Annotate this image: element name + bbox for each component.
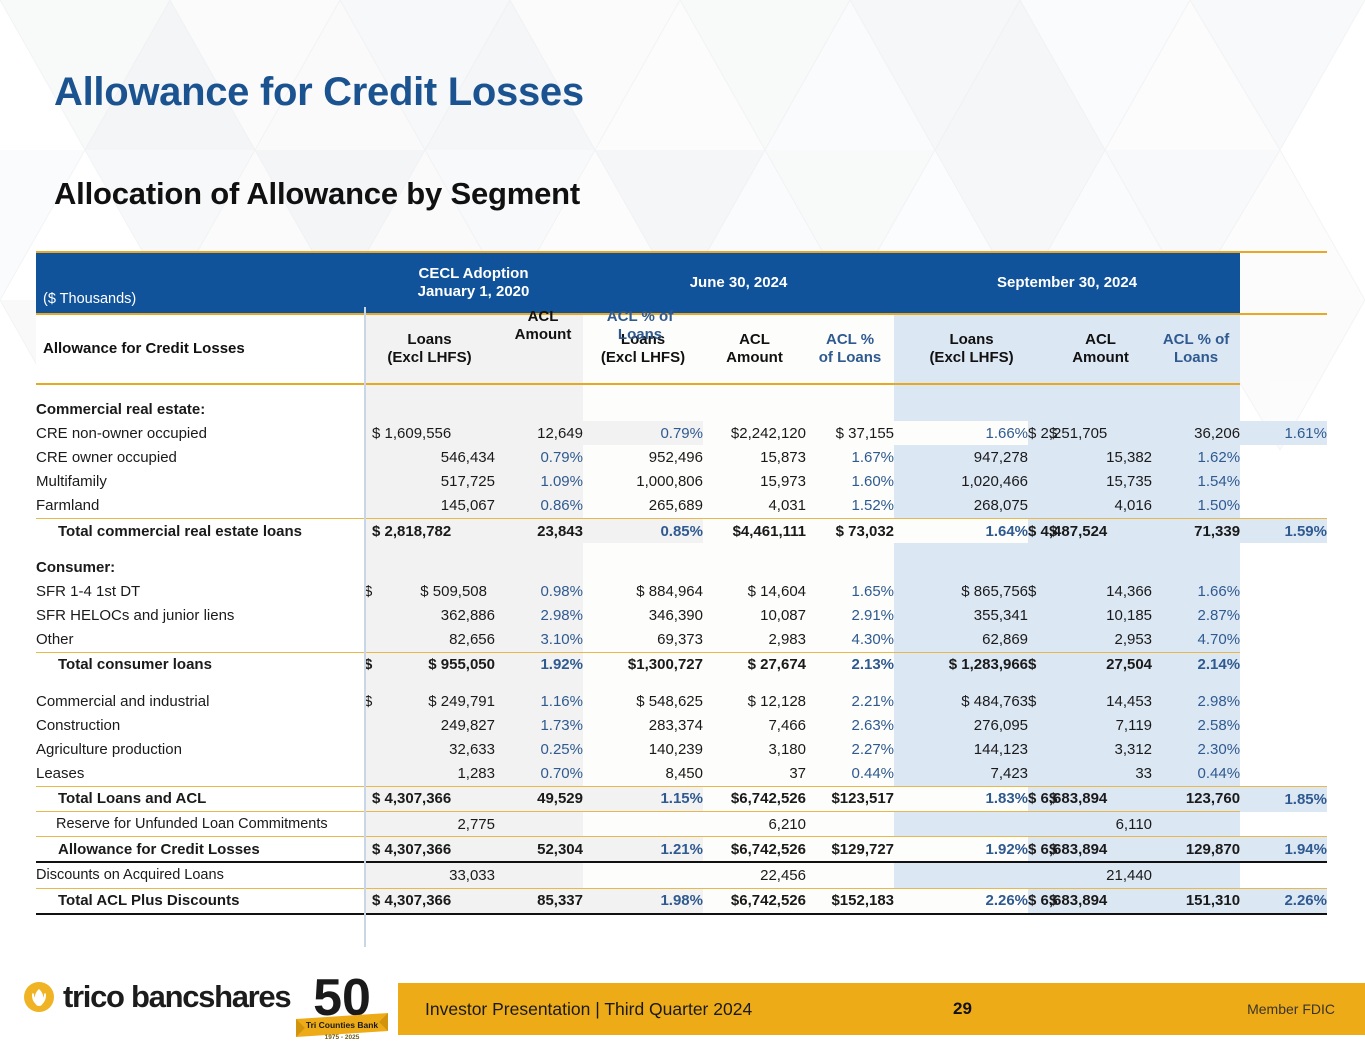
cell: 52,304 — [495, 837, 583, 863]
col-header-acl-sept: ACL Amount — [1049, 314, 1152, 384]
trico-tulip-icon — [22, 980, 56, 1014]
cell: $129,727 — [806, 837, 894, 863]
row-label: Consumer: — [36, 555, 364, 579]
group-header-september-line2: September 30, 2024 — [894, 274, 1240, 292]
row-header-label: Allowance for Credit Losses — [36, 314, 364, 384]
cell: $123,517 — [806, 786, 894, 811]
cell: 144,123 — [894, 737, 1028, 761]
cell: 1.66% — [894, 421, 1028, 445]
table-spacer-row — [36, 543, 1327, 555]
cell: 0.25% — [495, 737, 583, 761]
footer-presentation-label: Investor Presentation | Third Quarter 20… — [425, 983, 752, 1035]
table-row: Multifamily 517,725 1.09% 1.09% 1,000,80… — [36, 470, 1327, 494]
table-row: Agriculture production 32,633 0.25% 0.25… — [36, 737, 1327, 761]
footer-bar: Investor Presentation | Third Quarter 20… — [398, 983, 1365, 1035]
cell: 2.26% — [1240, 888, 1327, 914]
title-block: Allowance for Credit Losses Allocation o… — [54, 72, 584, 209]
cell: 1.64% — [894, 518, 1028, 543]
table-row: Consumer: — [36, 555, 1327, 579]
table-total-row: Total consumer loans $ $ 955,050 1.92% 1… — [36, 652, 1327, 677]
cell: 2.87% — [1152, 604, 1240, 628]
table-row: Commercial and industrial $ $ 249,791 1.… — [36, 689, 1327, 713]
col-header-acl-june-line2: Amount — [703, 349, 806, 367]
cell: 69,373 — [583, 628, 703, 653]
table-row: Reserve for Unfunded Loan Commitments 2,… — [36, 812, 1327, 837]
cell: 0.98% — [495, 579, 583, 603]
row-label: Discounts on Acquired Loans — [36, 862, 364, 888]
cell: 1.73% — [495, 713, 583, 737]
cell: 1.16% — [495, 689, 583, 713]
cell: 8,450 — [583, 762, 703, 787]
cell: 145,067 — [385, 494, 495, 519]
row-label: Total ACL Plus Discounts — [36, 888, 364, 914]
cell: 3.10% — [495, 628, 583, 653]
cell: 71,339 — [1152, 518, 1240, 543]
cell: 23,843 — [495, 518, 583, 543]
cell: $6,742,526 — [703, 786, 806, 811]
cell: 14,366 — [1049, 579, 1152, 603]
allowance-by-segment-table: ($ Thousands) CECL Adoption January 1, 2… — [36, 251, 1327, 915]
cell: 7,119 — [1049, 713, 1152, 737]
row-label: SFR HELOCs and junior liens — [36, 604, 364, 628]
cell: 3,312 — [1049, 737, 1152, 761]
row-label: Total commercial real estate loans — [36, 518, 364, 543]
table-row: Construction 249,827 1.73% 1.73% 283,374… — [36, 713, 1327, 737]
col-header-pct-sept-line1: ACL % of — [1152, 331, 1240, 349]
col-header-loans-cecl-line2: (Excl LHFS) — [364, 349, 495, 367]
row-label: SFR 1-4 1st DT — [36, 579, 364, 603]
group-header-september: September 30, 2024 — [894, 252, 1240, 314]
cell: 0.79% — [495, 445, 583, 469]
cell: 947,278 — [894, 445, 1028, 469]
cell: 1.94% — [1240, 837, 1327, 863]
cell: 2.27% — [806, 737, 894, 761]
row-label: Reserve for Unfunded Loan Commitments — [36, 812, 364, 837]
cell: 2.98% — [1152, 689, 1240, 713]
cell: 12,649 — [495, 421, 583, 445]
cell: 7,423 — [894, 762, 1028, 787]
cell: 33 — [1049, 762, 1152, 787]
cell: $ 4,307,366 — [364, 837, 495, 863]
cell: 0.79% — [583, 421, 703, 445]
cell: 362,886 — [385, 604, 495, 628]
cell: 49,529 — [495, 786, 583, 811]
cell: 6,210 — [703, 812, 806, 837]
cell: $ — [1028, 652, 1049, 677]
cell: 7,466 — [703, 713, 806, 737]
cell: 2.58% — [1152, 713, 1240, 737]
cell: 1.83% — [894, 786, 1028, 811]
brand-logo: trico bancshares — [22, 979, 290, 1015]
col-header-acl-sept-line1: ACL — [1049, 331, 1152, 349]
table-row: Other 82,656 3.10% 3.10% 69,373 2,983 4.… — [36, 628, 1327, 653]
cell: $ — [364, 579, 385, 603]
row-label: Other — [36, 628, 364, 653]
slide-footer: trico bancshares 50 Tri Counties Bank 19… — [0, 965, 1365, 1055]
cell: $ 37,155 — [806, 421, 894, 445]
cell: 15,873 — [703, 445, 806, 469]
col-header-acl-june-line1: ACL — [703, 331, 806, 349]
cell: $ 4,307,366 — [364, 888, 495, 914]
allowance-table-container: ($ Thousands) CECL Adoption January 1, 2… — [36, 251, 1327, 915]
cell: $1,300,727 — [583, 652, 703, 677]
cell: 1.50% — [1152, 494, 1240, 519]
cell: $ — [364, 689, 385, 713]
cell: 14,453 — [1049, 689, 1152, 713]
col-header-pct-june-line2: of Loans — [806, 349, 894, 367]
cell: 1.60% — [806, 470, 894, 494]
cell: $ 884,964 — [583, 579, 703, 603]
row-label: CRE non-owner occupied — [36, 421, 364, 445]
cell: $6,742,526 — [703, 837, 806, 863]
cell: $ 6,683,894 — [1028, 786, 1049, 811]
col-header-pct-june-line1: ACL % — [806, 331, 894, 349]
cell: $ 484,763 — [894, 689, 1028, 713]
col-header-pct-sept: ACL % of Loans — [1152, 314, 1240, 384]
cell: 546,434 — [385, 445, 495, 469]
cell: 1.15% — [583, 786, 703, 811]
cell: 0.86% — [495, 494, 583, 519]
cell: 2.26% — [894, 888, 1028, 914]
row-label: Total Loans and ACL — [36, 786, 364, 811]
cell: $ 955,050 — [385, 652, 495, 677]
cell: 268,075 — [894, 494, 1028, 519]
cell: $ 548,625 — [583, 689, 703, 713]
cell: 0.44% — [1152, 762, 1240, 787]
cell: $ 509,508 — [385, 579, 495, 603]
cell: $ 1,609,556 — [364, 421, 495, 445]
table-total-row: Total commercial real estate loans $ 2,8… — [36, 518, 1327, 543]
anniversary-years: 1975 - 2025 — [325, 1034, 360, 1041]
table-total-row: Total Loans and ACL $ 4,307,366 49,529 1… — [36, 786, 1327, 811]
cell: $ 2,251,705 — [1028, 421, 1049, 445]
cell: 1.85% — [1240, 786, 1327, 811]
cell: $ 865,756 — [894, 579, 1028, 603]
group-header-cecl-line2: January 1, 2020 — [364, 283, 583, 301]
group-header-june: June 30, 2024 — [583, 252, 894, 314]
cell: 1.61% — [1240, 421, 1327, 445]
cell: 2,983 — [703, 628, 806, 653]
brand-name: trico bancshares — [63, 979, 290, 1015]
col-header-acl-sept-line2: Amount — [1049, 349, 1152, 367]
row-label: Construction — [36, 713, 364, 737]
cell: $ — [364, 652, 385, 677]
cell: 4,031 — [703, 494, 806, 519]
cell: 123,760 — [1152, 786, 1240, 811]
cell: $ 73,032 — [806, 518, 894, 543]
cell: 2.21% — [806, 689, 894, 713]
cell: 355,341 — [894, 604, 1028, 628]
col-header-loans-sept-line2: (Excl LHFS) — [894, 349, 1049, 367]
col-header-acl-june: ACL Amount — [703, 314, 806, 384]
cell: 15,382 — [1049, 445, 1152, 469]
col-header-acl-cecl-line2: Amount — [488, 326, 598, 344]
col-header-pct-cecl-line2: Loans — [594, 326, 686, 344]
row-label: Allowance for Credit Losses — [36, 837, 364, 863]
cell: 129,870 — [1152, 837, 1240, 863]
row-label: Agriculture production — [36, 737, 364, 761]
cell: 2.14% — [1152, 652, 1240, 677]
row-label: Commercial real estate: — [36, 397, 364, 421]
col-header-acl-cecl-line1: ACL — [488, 308, 598, 326]
page-number: 29 — [953, 983, 972, 1035]
cell: $ 6,683,894 — [1028, 888, 1049, 914]
cell: 151,310 — [1152, 888, 1240, 914]
cell: 62,869 — [894, 628, 1028, 653]
cell: 517,725 — [385, 470, 495, 494]
table-row: Farmland 145,067 0.86% 0.86% 265,689 4,0… — [36, 494, 1327, 519]
cell: 0.70% — [495, 762, 583, 787]
cell: 21,440 — [1049, 862, 1152, 888]
cell: 265,689 — [583, 494, 703, 519]
cell: 1.59% — [1240, 518, 1327, 543]
cell: 2.98% — [495, 604, 583, 628]
cell: $ 1,283,966 — [894, 652, 1028, 677]
cell: 32,633 — [385, 737, 495, 761]
cell: 0.85% — [583, 518, 703, 543]
cell: 2,775 — [385, 812, 495, 837]
cell: 346,390 — [583, 604, 703, 628]
cell: 1,000,806 — [583, 470, 703, 494]
cell: 1.21% — [583, 837, 703, 863]
cell: 1.62% — [1152, 445, 1240, 469]
cell: 2.91% — [806, 604, 894, 628]
cell: 1.66% — [1152, 579, 1240, 603]
cell: 1,020,466 — [894, 470, 1028, 494]
cell: $6,742,526 — [703, 888, 806, 914]
cell: 2.63% — [806, 713, 894, 737]
cell: $ 249,791 — [385, 689, 495, 713]
cell: 249,827 — [385, 713, 495, 737]
cell: $ — [1028, 689, 1049, 713]
cell: 1.52% — [806, 494, 894, 519]
cell: 6,110 — [1049, 812, 1152, 837]
cell: 1.65% — [806, 579, 894, 603]
col-header-loans-sept-line1: Loans — [894, 331, 1049, 349]
table-row: Commercial real estate: — [36, 397, 1327, 421]
row-label: Leases — [36, 762, 364, 787]
col-header-pct-cecl-line1: ACL % of — [594, 308, 686, 326]
row-label: CRE owner occupied — [36, 445, 364, 469]
table-total-row: Allowance for Credit Losses $ 4,307,366 … — [36, 837, 1327, 863]
table-row: CRE non-owner occupied $ 1,609,556 12,64… — [36, 421, 1327, 445]
cell: 37 — [703, 762, 806, 787]
table-total-row: Total ACL Plus Discounts $ 4,307,366 85,… — [36, 888, 1327, 914]
group-header-cecl: CECL Adoption January 1, 2020 — [364, 252, 583, 314]
member-fdic-label: Member FDIC — [1247, 983, 1335, 1035]
col-header-acl-cecl-overlay: ACL Amount — [488, 308, 598, 344]
cell: 10,087 — [703, 604, 806, 628]
cell: 1.09% — [495, 470, 583, 494]
row-label: Multifamily — [36, 470, 364, 494]
row-label: Commercial and industrial — [36, 689, 364, 713]
table-spacer-row — [36, 384, 1327, 397]
anniversary-bank: Tri Counties Bank — [306, 1020, 379, 1030]
cell: 0.44% — [806, 762, 894, 787]
row-label: Total consumer loans — [36, 652, 364, 677]
cell: 33,033 — [385, 862, 495, 888]
col-header-pct-sept-line2: Loans — [1152, 349, 1240, 367]
cell: 1,283 — [385, 762, 495, 787]
table-row: Leases 1,283 0.70% 0.70% 8,450 37 0.44% … — [36, 762, 1327, 787]
cell: 82,656 — [385, 628, 495, 653]
cell: 3,180 — [703, 737, 806, 761]
col-header-loans-june-line2: (Excl LHFS) — [583, 349, 703, 367]
cell: $152,183 — [806, 888, 894, 914]
col-header-loans-sept: Loans (Excl LHFS) — [894, 314, 1049, 384]
cell: $ 27,674 — [703, 652, 806, 677]
cell: 4.30% — [806, 628, 894, 653]
cell: 10,185 — [1049, 604, 1152, 628]
cell: $4,461,111 — [703, 518, 806, 543]
cell: 15,735 — [1049, 470, 1152, 494]
cell: 952,496 — [583, 445, 703, 469]
cell: 1.67% — [806, 445, 894, 469]
row-label: Farmland — [36, 494, 364, 519]
cell: 276,095 — [894, 713, 1028, 737]
col-header-pct-june: ACL % of Loans — [806, 314, 894, 384]
page-subtitle: Allocation of Allowance by Segment — [54, 178, 584, 209]
cell: $2,242,120 — [703, 421, 806, 445]
cell: 27,504 — [1049, 652, 1152, 677]
table-period-header-row: ($ Thousands) CECL Adoption January 1, 2… — [36, 252, 1327, 314]
cell: 4,016 — [1049, 494, 1152, 519]
col-header-loans-cecl-line1: Loans — [364, 331, 495, 349]
cell: 4.70% — [1152, 628, 1240, 653]
cell: 1.54% — [1152, 470, 1240, 494]
table-row: SFR 1-4 1st DT $ $ 509,508 0.98% 0.98% $… — [36, 579, 1327, 603]
cell: 1.92% — [894, 837, 1028, 863]
table-spacer-row — [36, 677, 1327, 689]
cell: $ 12,128 — [703, 689, 806, 713]
table-row: SFR HELOCs and junior liens 362,886 2.98… — [36, 604, 1327, 628]
anniversary-50-logo: 50 Tri Counties Bank 1975 - 2025 — [292, 967, 392, 1045]
cell: $ 2,818,782 — [364, 518, 495, 543]
cell: 2.13% — [806, 652, 894, 677]
cell: 2,953 — [1049, 628, 1152, 653]
group-header-june-line2: June 30, 2024 — [583, 274, 894, 292]
table-row: Discounts on Acquired Loans 33,033 22,45… — [36, 862, 1327, 888]
cell: $ 6,683,894 — [1028, 837, 1049, 863]
cell: 1.98% — [583, 888, 703, 914]
cell: 22,456 — [703, 862, 806, 888]
cell: $ 4,487,524 — [1028, 518, 1049, 543]
cell: 85,337 — [495, 888, 583, 914]
cell: 2.30% — [1152, 737, 1240, 761]
page-title: Allowance for Credit Losses — [54, 72, 584, 112]
cell: $ 14,604 — [703, 579, 806, 603]
cell: 283,374 — [583, 713, 703, 737]
cell: $ — [1028, 579, 1049, 603]
cell: 1.92% — [495, 652, 583, 677]
col-header-pct-cecl-overlay: ACL % of Loans — [594, 308, 686, 344]
group-divider-left — [364, 307, 366, 947]
cell: 15,973 — [703, 470, 806, 494]
units-label: ($ Thousands) — [36, 252, 364, 314]
group-header-cecl-line1: CECL Adoption — [364, 265, 583, 283]
cell: $ 4,307,366 — [364, 786, 495, 811]
cell: 36,206 — [1152, 421, 1240, 445]
col-header-loans-cecl: Loans (Excl LHFS) — [364, 314, 495, 384]
cell: 140,239 — [583, 737, 703, 761]
table-row: CRE owner occupied 546,434 4,308 0.79% 9… — [36, 445, 1327, 469]
